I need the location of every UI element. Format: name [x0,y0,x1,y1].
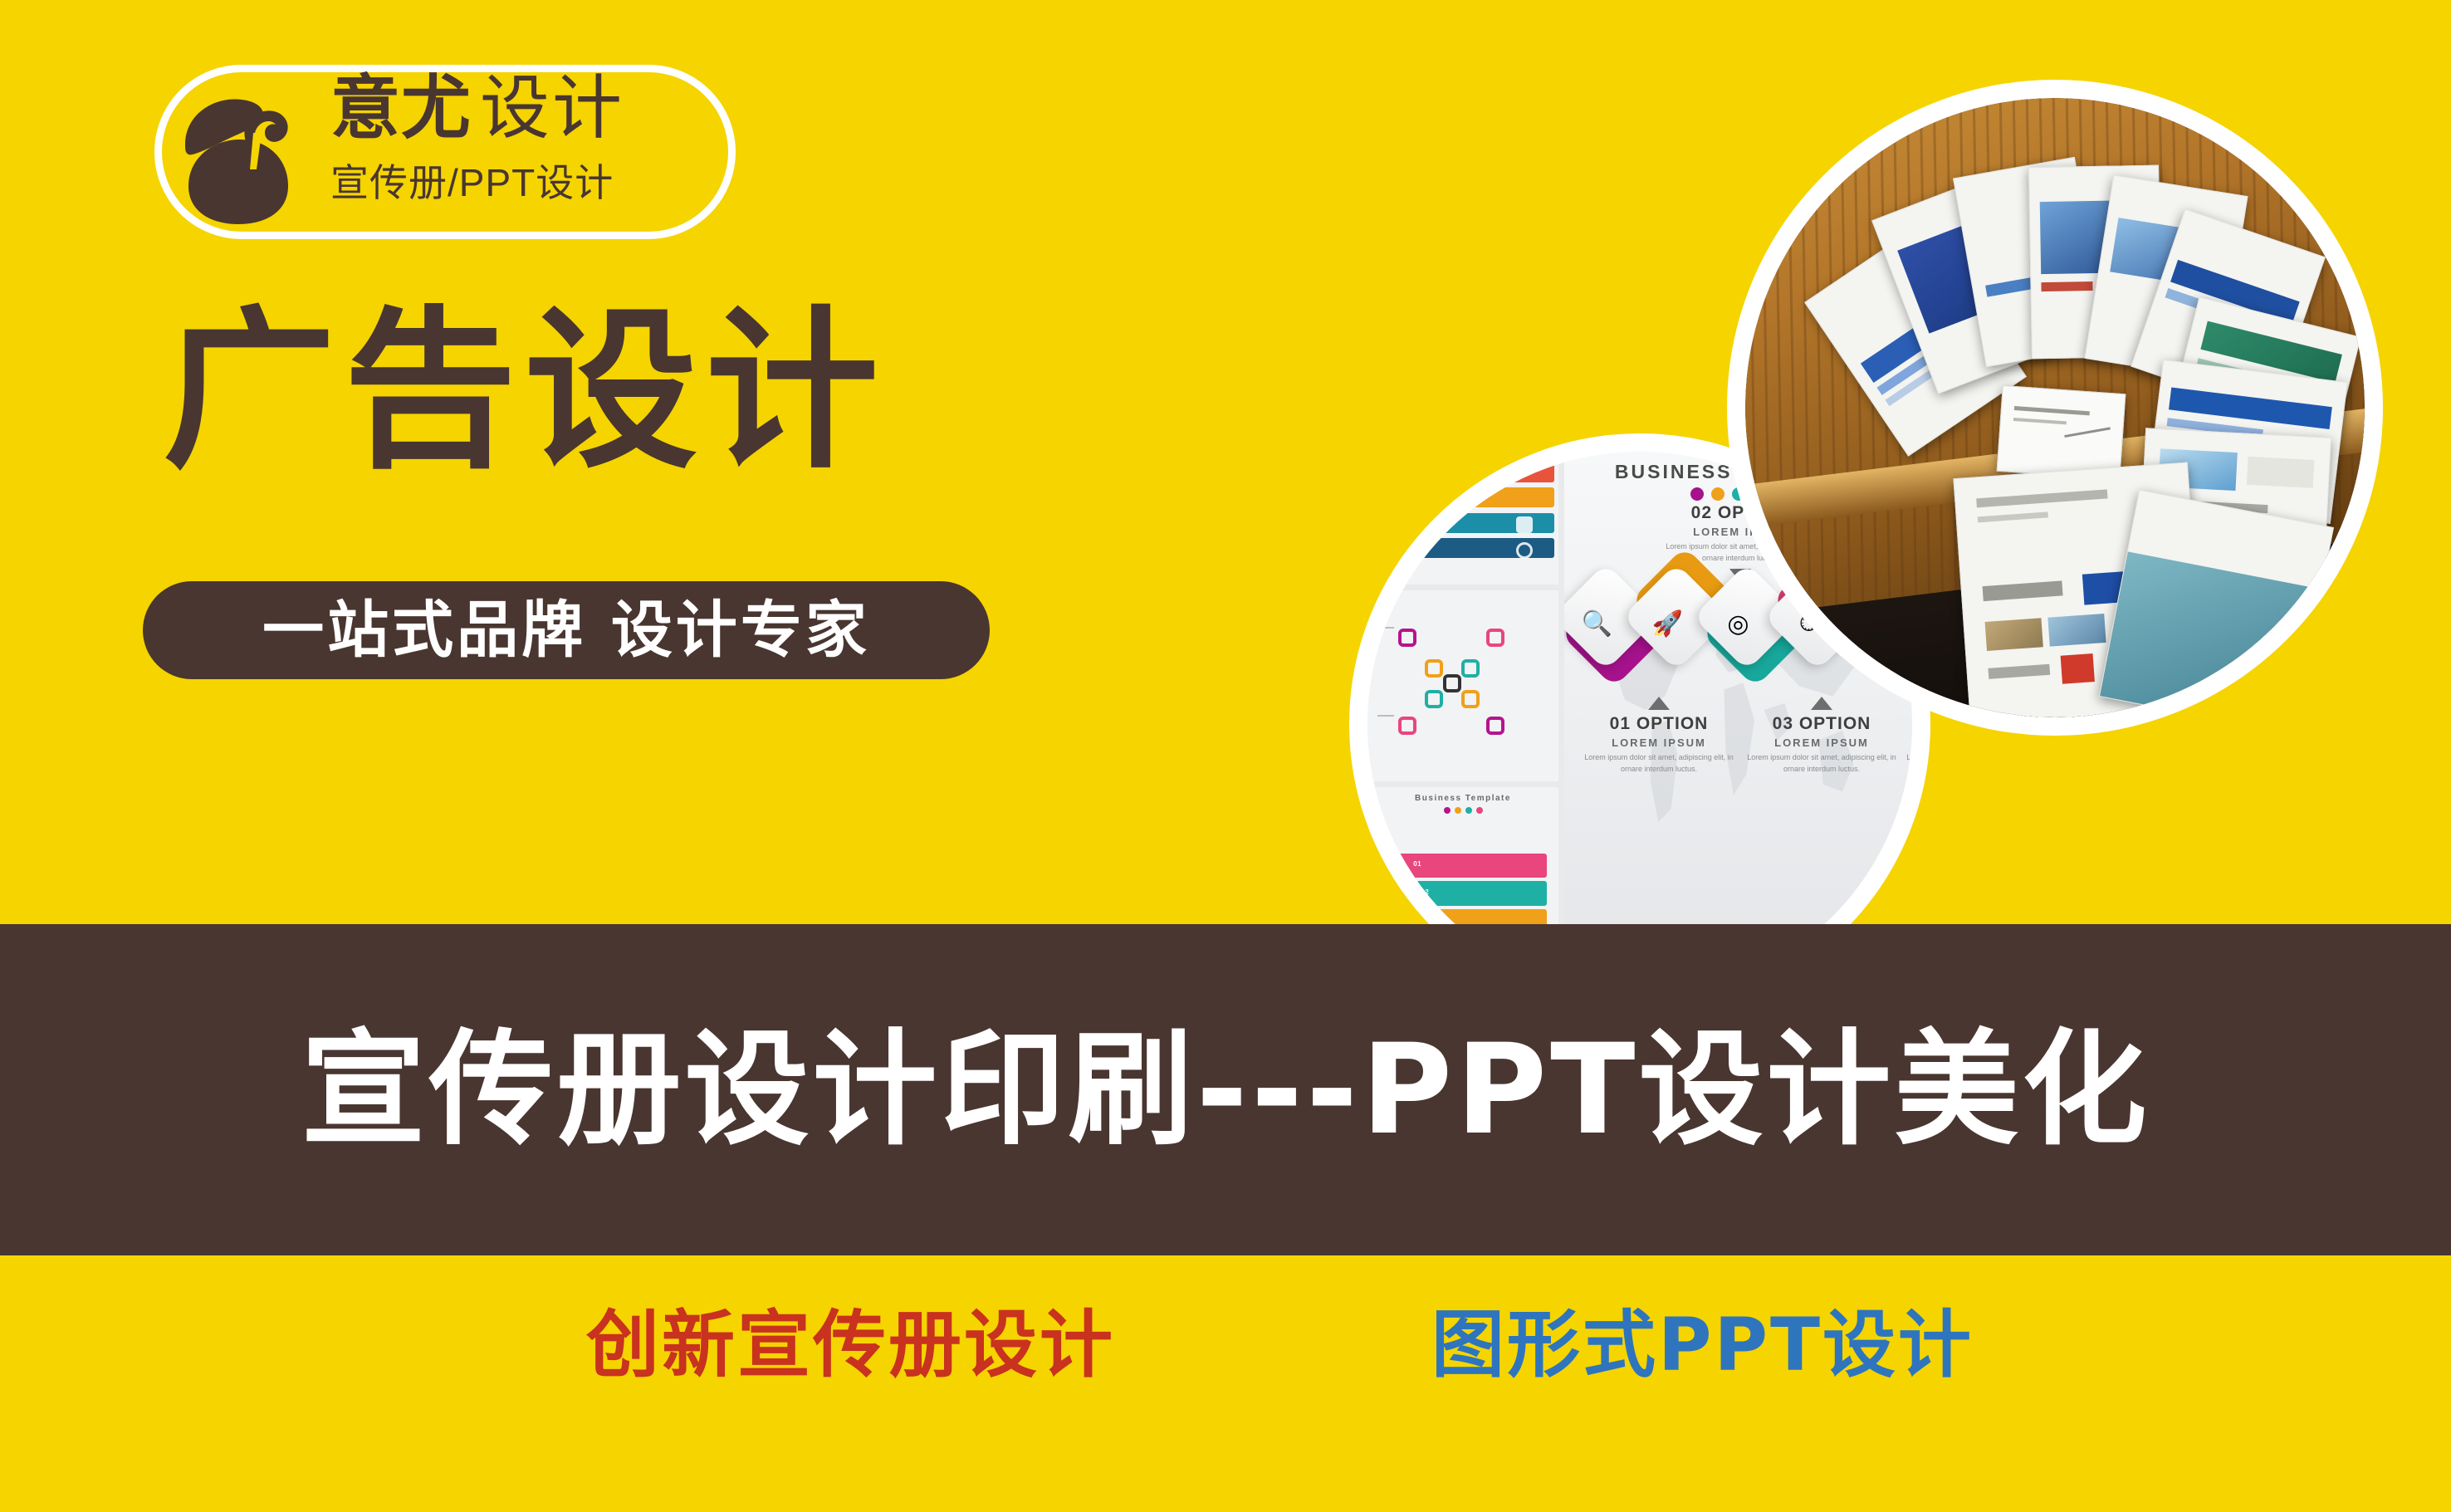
tagline-pill: 一站式品牌 设计专家 [143,581,990,679]
bird-seed-logo-icon [170,80,324,225]
thumb-cross-diagram [1367,590,1558,781]
logo-brand-light: 设计 [480,73,624,143]
ppt-diamond-02: 🚀 [1635,579,1700,668]
caption-brochure-design: 创新宣传册设计 [586,1309,1115,1382]
magnifier-icon: 🔍 [1564,579,1630,668]
photo-circle [1727,80,2383,736]
ppt-option-01: 01 OPTION LOREM IPSUM Lorem ipsum dolor … [1576,692,1742,776]
brochure-photo [1745,98,2365,717]
logo-brand-bold: 意尤 [330,73,472,143]
logo-text: 意尤 设计 宣传册/PPT设计 [330,73,721,235]
ppt-diamond-01: 🔍 [1564,579,1630,668]
bottom-yellow-band [0,1255,2451,1512]
caption-ppt-design: 图形式PPT设计 [1431,1309,1974,1382]
page-title: 广告设计 [163,306,887,478]
tagline-text: 一站式品牌 设计专家 [262,599,870,661]
triangle-up-icon [1648,697,1670,710]
thumb-funnel-header: Business Template [1367,794,1558,803]
rocket-icon: 🚀 [1635,579,1700,668]
logo-subtitle: 宣传册/PPT设计 [330,153,721,208]
advertising-banner: Business Template 01 02 03 04 [0,0,2451,1512]
banner-headline: 宣传册设计印刷---PPT设计美化 [0,924,2451,1255]
thumb-ribbon [1367,452,1558,585]
